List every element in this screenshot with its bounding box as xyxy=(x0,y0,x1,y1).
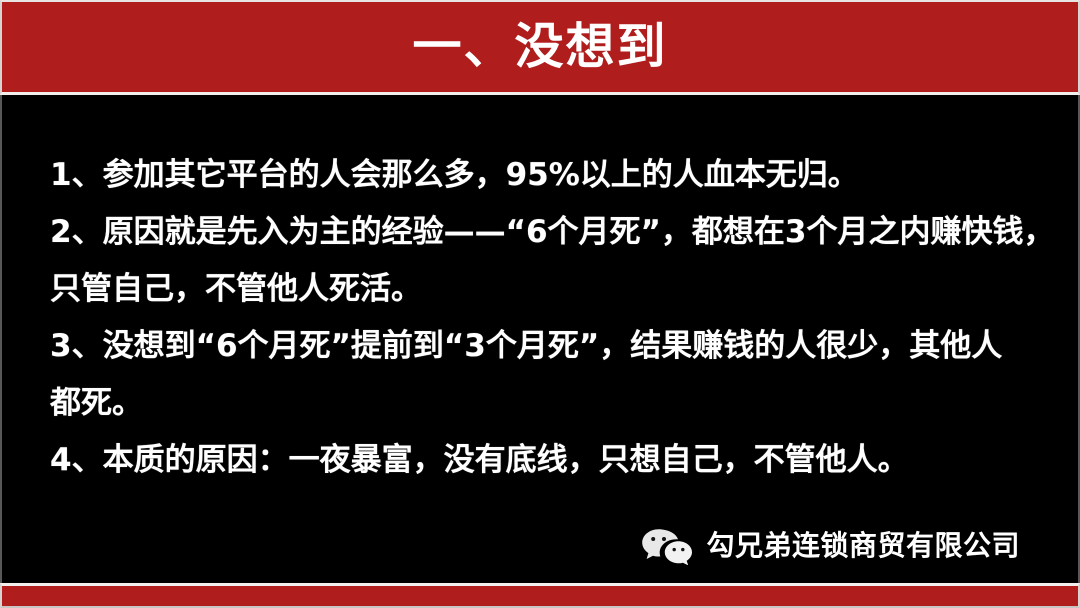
list-item: 只管自己，不管他人死活。 xyxy=(50,261,1050,318)
slide-body: 1、参加其它平台的人会那么多，95%以上的人血本无归。 2、原因就是先入为主的经… xyxy=(0,95,1080,583)
wechat-icon xyxy=(641,527,693,565)
list-item: 1、参加其它平台的人会那么多，95%以上的人血本无归。 xyxy=(50,147,1050,204)
page-title: 一、没想到 xyxy=(412,22,667,71)
slide-canvas: 一、没想到 1、参加其它平台的人会那么多，95%以上的人血本无归。 2、原因就是… xyxy=(0,0,1080,608)
list-item: 都死。 xyxy=(50,375,1050,432)
slide-bottom-bar xyxy=(0,583,1080,608)
wechat-account-name: 勾兄弟连锁商贸有限公司 xyxy=(706,532,1020,560)
list-item: 2、原因就是先入为主的经验——“6个月死”，都想在3个月之内赚快钱， xyxy=(50,204,1050,261)
slide-title-bar: 一、没想到 xyxy=(0,0,1080,95)
footer-signature: 勾兄弟连锁商贸有限公司 xyxy=(641,527,1020,565)
content-list: 1、参加其它平台的人会那么多，95%以上的人血本无归。 2、原因就是先入为主的经… xyxy=(50,147,1050,489)
list-item: 4、本质的原因：一夜暴富，没有底线，只想自己，不管他人。 xyxy=(50,432,1050,489)
list-item: 3、没想到“6个月死”提前到“3个月死”，结果赚钱的人很少，其他人 xyxy=(50,318,1050,375)
